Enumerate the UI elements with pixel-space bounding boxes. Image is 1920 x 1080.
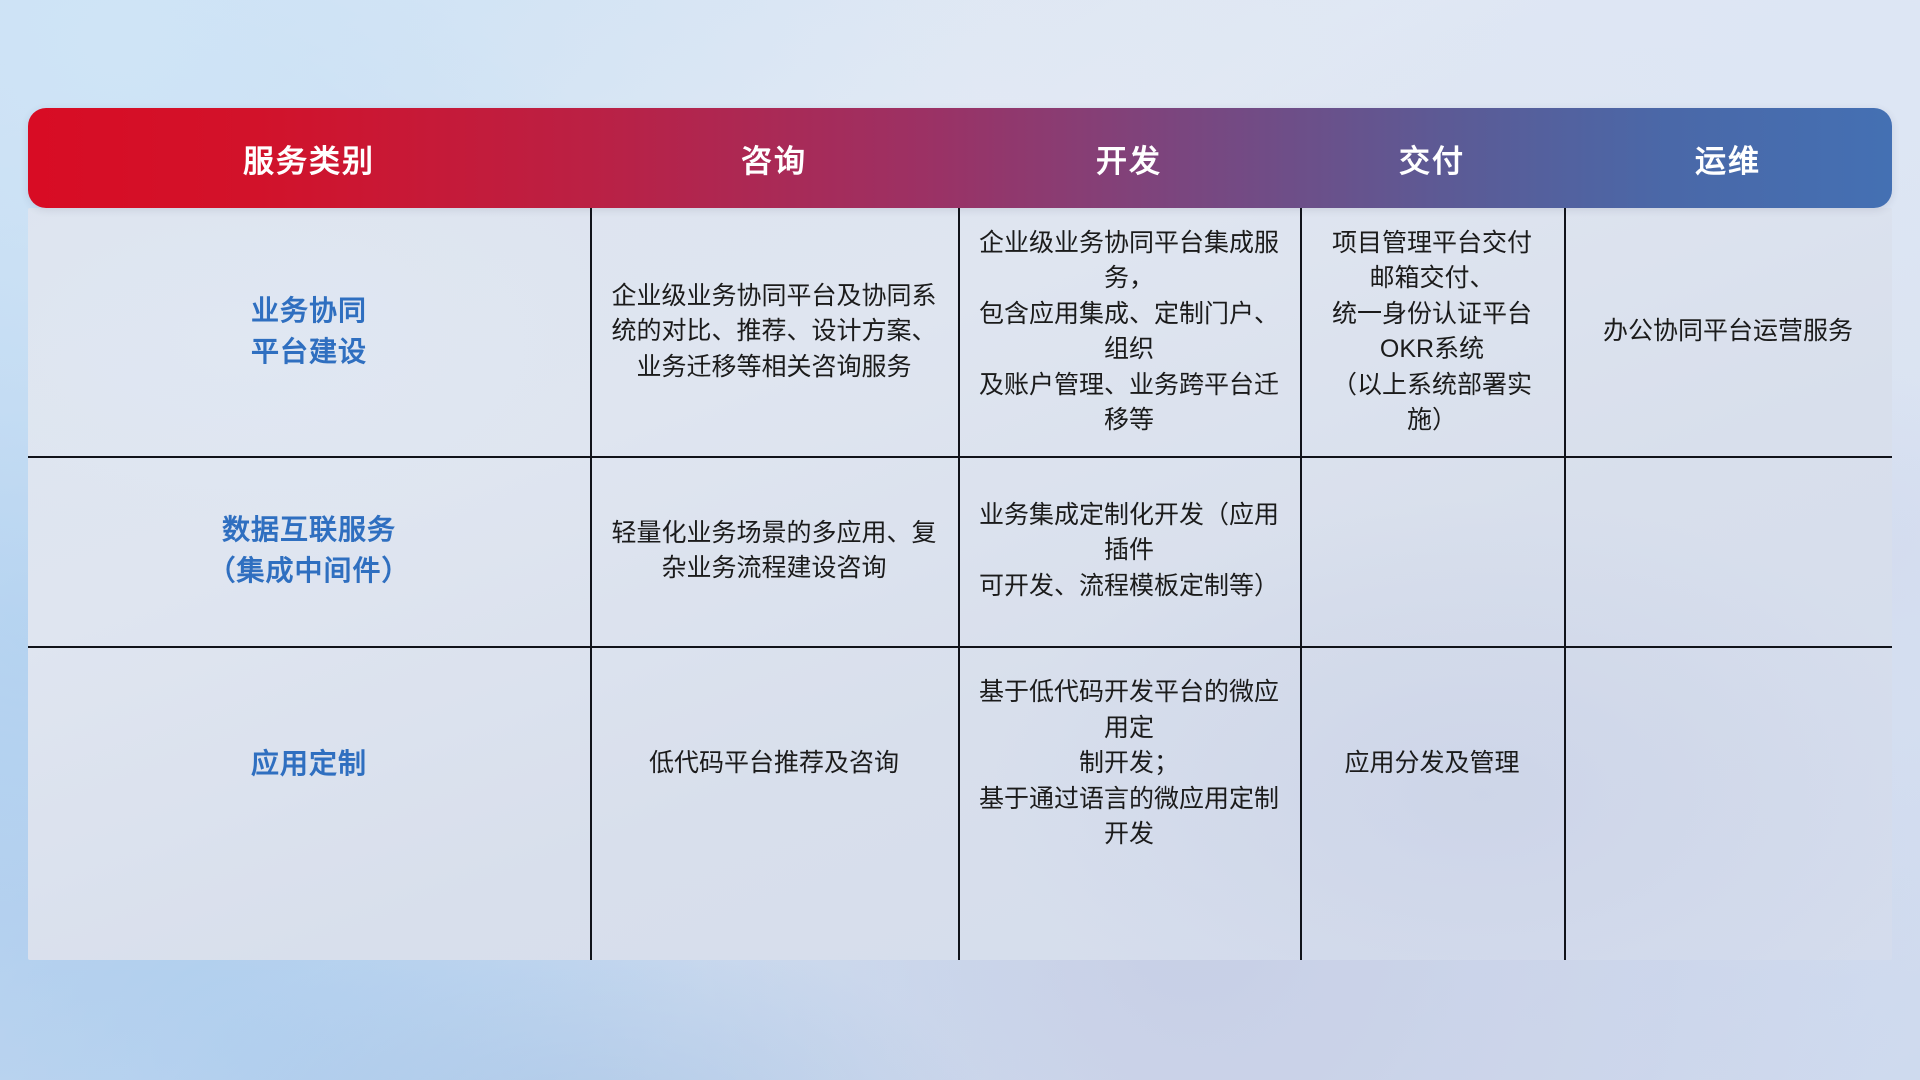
header-cell-delivery[interactable]: 交付 [1300,108,1564,208]
cell-delivery-3: 应用分发及管理 [1300,646,1564,882]
table-row: 数据互联服务（集成中间件） 轻量化业务场景的多应用、复杂业务流程建设咨询 业务集… [28,456,1892,646]
cell-category-1: 业务协同平台建设 [28,208,590,456]
cell-delivery-1: 项目管理平台交付邮箱交付、统一身份认证平台OKR系统（以上系统部署实施） [1300,208,1564,456]
table: 服务类别 咨询 开发 交付 运维 业务协同平台建设 企业级业务协同平台及协同系统… [28,108,1892,882]
cell-consulting-3: 低代码平台推荐及咨询 [590,646,958,882]
header-cell-development[interactable]: 开发 [958,108,1300,208]
header-cell-consulting[interactable]: 咨询 [590,108,958,208]
header-cell-operations[interactable]: 运维 [1564,108,1892,208]
cell-operations-2 [1564,456,1892,646]
table-row: 业务协同平台建设 企业级业务协同平台及协同系统的对比、推荐、设计方案、业务迁移等… [28,208,1892,456]
table-body: 业务协同平台建设 企业级业务协同平台及协同系统的对比、推荐、设计方案、业务迁移等… [28,208,1892,882]
table-head: 服务类别 咨询 开发 交付 运维 [28,108,1892,208]
cell-development-1: 企业级业务协同平台集成服务，包含应用集成、定制门户、组织及账户管理、业务跨平台迁… [958,208,1300,456]
cell-consulting-2: 轻量化业务场景的多应用、复杂业务流程建设咨询 [590,456,958,646]
cell-operations-3 [1564,646,1892,882]
header-cell-service-category[interactable]: 服务类别 [28,108,590,208]
cell-category-2: 数据互联服务（集成中间件） [28,456,590,646]
header-row: 服务类别 咨询 开发 交付 运维 [28,108,1892,208]
service-category-table: 服务类别 咨询 开发 交付 运维 业务协同平台建设 企业级业务协同平台及协同系统… [28,108,1892,960]
cell-consulting-1: 企业级业务协同平台及协同系统的对比、推荐、设计方案、业务迁移等相关咨询服务 [590,208,958,456]
cell-delivery-2 [1300,456,1564,646]
cell-development-2: 业务集成定制化开发（应用插件可开发、流程模板定制等） [958,456,1300,646]
cell-category-3: 应用定制 [28,646,590,882]
table-row: 应用定制 低代码平台推荐及咨询 基于低代码开发平台的微应用定制开发；基于通过语言… [28,646,1892,882]
cell-development-3: 基于低代码开发平台的微应用定制开发；基于通过语言的微应用定制开发 [958,646,1300,882]
cell-operations-1: 办公协同平台运营服务 [1564,208,1892,456]
